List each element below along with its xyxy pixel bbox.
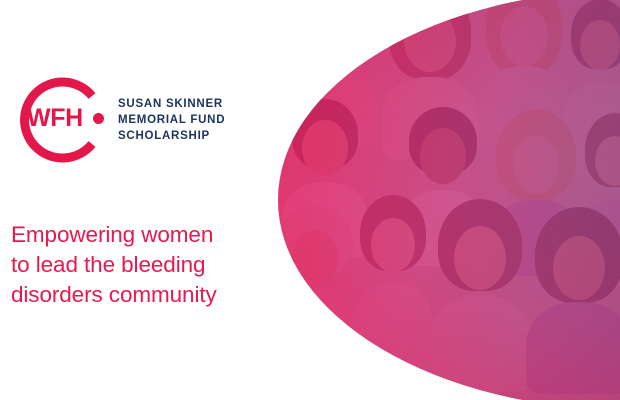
tagline: Empowering women to lead the bleeding di…: [11, 220, 279, 310]
tagline-line-3: disorders community: [11, 280, 279, 310]
wordmark-line-2: MEMORIAL FUND: [118, 112, 225, 128]
photo-panel: [278, 0, 620, 400]
brand-logo: WFH SUSAN SKINNER MEMORIAL FUND SCHOLARS…: [14, 72, 225, 168]
wfh-logo-mark: WFH: [14, 72, 110, 168]
wordmark-line-3: SCHOLARSHIP: [118, 128, 225, 144]
content-column: WFH SUSAN SKINNER MEMORIAL FUND SCHOLARS…: [0, 0, 290, 400]
photo-image: [278, 0, 620, 400]
tagline-line-1: Empowering women: [11, 220, 279, 250]
scholarship-wordmark: SUSAN SKINNER MEMORIAL FUND SCHOLARSHIP: [118, 96, 225, 145]
photo-color-overlay-secondary: [278, 0, 620, 400]
wordmark-line-1: SUSAN SKINNER: [118, 96, 225, 112]
promo-banner: WFH SUSAN SKINNER MEMORIAL FUND SCHOLARS…: [0, 0, 620, 400]
wfh-logo-text: WFH: [27, 106, 89, 131]
dot-icon: [93, 113, 104, 124]
tagline-line-2: to lead the bleeding: [11, 250, 279, 280]
